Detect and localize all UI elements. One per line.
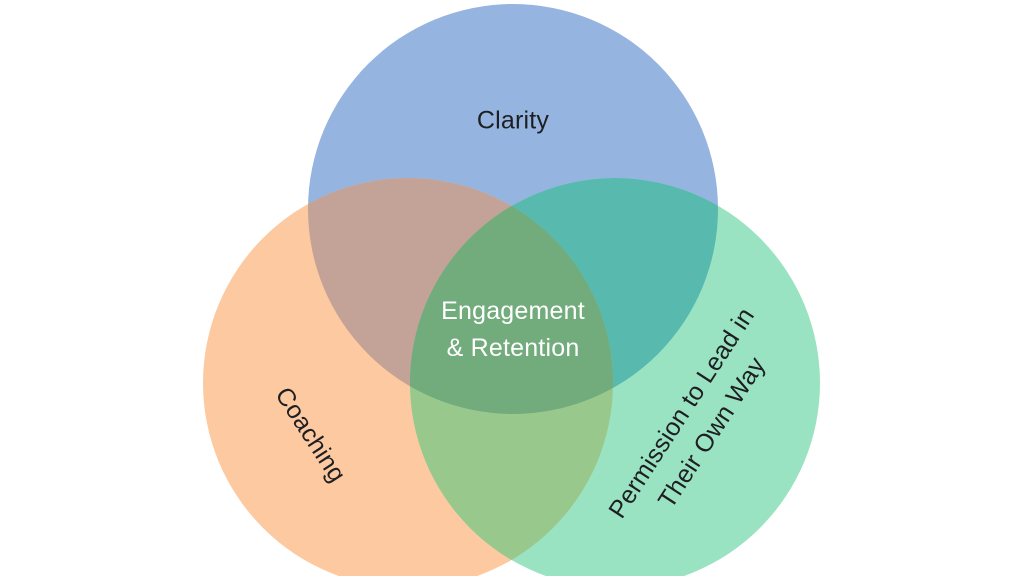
- label-clarity: Clarity: [477, 105, 549, 138]
- venn-circles-canvas: [0, 0, 1024, 576]
- center-label-line-2: & Retention: [447, 334, 580, 362]
- venn-diagram: Clarity Coaching Permission to Lead in T…: [0, 0, 1024, 576]
- center-label-line-1: Engagement: [441, 297, 585, 325]
- label-engagement-retention: Engagement& Retention: [441, 293, 585, 367]
